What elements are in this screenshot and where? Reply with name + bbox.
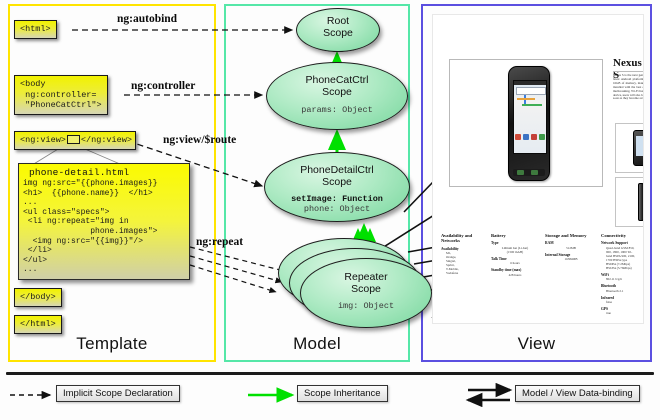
scope-repeater[interactable]: Repeater Scope img: Object xyxy=(300,258,432,328)
column-label-view: View xyxy=(421,334,652,354)
sticky-note-phone-detail[interactable]: phone-detail.html img ng:src="{{phone.im… xyxy=(18,163,190,280)
edge-label-ng-controller: ng:controller xyxy=(131,80,195,92)
phone-screen xyxy=(513,80,547,154)
edge-label-ng-repeat: ng:repeat xyxy=(196,236,243,248)
phone-app-dock xyxy=(515,134,545,143)
spec-column-battery: Battery Type Lithium Ion (Li-Ion) (1500 … xyxy=(491,233,539,277)
sticky-note-code: img ng:src="{{phone.images}} <h1> {{phon… xyxy=(19,179,189,275)
phone-app-icon-4 xyxy=(539,134,545,140)
view-rendered-page[interactable]: Nexus S Nexus S is the next generation o… xyxy=(432,14,644,324)
code-box-html-open[interactable]: <html> xyxy=(14,20,57,39)
scope-phonecatctrl[interactable]: PhoneCatCtrl Scope params: Object xyxy=(266,62,408,130)
code-box-body-open[interactable]: <body ng:controller= "PhoneCatCtrl"> xyxy=(14,75,108,115)
legend-glyph-binding xyxy=(468,390,510,400)
spec-value-ram: 512MB xyxy=(545,246,597,250)
spec-header-storage: Storage and Memory xyxy=(545,233,597,238)
spec-value-internal-storage: 16384MB xyxy=(545,257,597,261)
phone-wallpaper-line-green xyxy=(522,104,542,106)
phone-app-icon-1 xyxy=(515,134,521,140)
phone-device-illustration xyxy=(508,66,550,181)
phone-home-button-icon xyxy=(531,170,538,175)
legend-divider xyxy=(6,372,654,375)
phone-wallpaper-line-orange xyxy=(517,98,535,100)
code-box-html-close[interactable]: </html> xyxy=(14,315,62,334)
spec-header-battery: Battery xyxy=(491,233,539,238)
scope-phonecatctrl-title-line2: Scope xyxy=(267,87,407,99)
scope-phonecatctrl-prop-params: params: Object xyxy=(267,105,407,115)
view-title-divider xyxy=(613,71,644,72)
phone-statusbar-icon xyxy=(514,81,546,85)
edge-label-ng-view-route: ng:view/$route xyxy=(163,134,236,146)
spec-value-availability-6: Vodafone xyxy=(441,271,485,275)
spec-column-connectivity: Connectivity Network Support Quad-band G… xyxy=(601,233,641,315)
legend-item-implicit-scope-declaration: Implicit Scope Declaration xyxy=(56,385,180,402)
scope-phonedetailctrl-title-line1: PhoneDetailCtrl xyxy=(265,153,409,177)
diagram-canvas: <html> <body ng:controller= "PhoneCatCtr… xyxy=(0,0,660,420)
column-label-model: Model xyxy=(224,334,410,354)
thumbnail-phone-side-icon xyxy=(638,183,644,221)
spec-column-storage: Storage and Memory RAM 512MB Internal St… xyxy=(545,233,597,261)
scope-repeater-title-line2: Scope xyxy=(301,284,431,296)
spec-value-battery-talktime: 6 hours xyxy=(491,261,539,265)
ng-view-close-tag: </ng:view> xyxy=(81,135,132,145)
scope-root-title-line2: Scope xyxy=(297,28,379,40)
legend-item-scope-inheritance: Scope Inheritance xyxy=(297,385,388,402)
spec-value-battery-standby: 428 hours xyxy=(491,273,539,277)
spec-value-wifi: 802.11 b/g/n xyxy=(601,277,641,281)
thumbnail-phone-front-icon xyxy=(633,130,644,166)
ng-view-slot-icon xyxy=(67,135,80,144)
spec-value-battery-type-2: (1500 mAH) xyxy=(491,250,539,254)
phone-hardware-buttons xyxy=(513,169,545,176)
ng-view-open-tag: <ng:view> xyxy=(20,135,66,145)
scope-phonedetailctrl-prop-phone: phone: Object xyxy=(265,204,409,214)
scope-phonecatctrl-title-line1: PhoneCatCtrl xyxy=(267,63,407,87)
view-thumbnail-front[interactable] xyxy=(615,123,644,173)
legend-item-model-view-data-binding: Model / View Data-binding xyxy=(515,385,640,402)
phone-app-icon-3 xyxy=(531,134,537,140)
column-label-template: Template xyxy=(8,334,216,354)
scope-phonedetailctrl-prop-setimage: setImage: Function xyxy=(265,194,409,204)
code-box-ng-view[interactable]: <ng:view></ng:view> xyxy=(14,131,136,150)
spec-value-network-6: HSUPA (5.76Mbps) xyxy=(601,266,641,270)
edge-ng-repeat xyxy=(190,247,288,292)
edge-label-ng-autobind: ng:autobind xyxy=(117,13,177,25)
scope-phonedetailctrl-title-line2: Scope xyxy=(265,177,409,189)
spec-column-availability: Availability and Networks Availability M… xyxy=(441,233,485,275)
scope-repeater-title-line1: Repeater xyxy=(301,259,431,284)
scope-root[interactable]: Root Scope xyxy=(296,8,380,52)
phone-call-button-icon xyxy=(517,170,524,175)
view-spec-table: Availability and Networks Availability M… xyxy=(433,233,643,313)
phone-hero-image-frame[interactable] xyxy=(449,59,603,187)
spec-value-infrared: false xyxy=(601,300,641,304)
scope-phonedetailctrl[interactable]: PhoneDetailCtrl Scope setImage: Function… xyxy=(264,152,410,222)
scope-root-title-line1: Root xyxy=(297,9,379,28)
phone-search-widget-icon xyxy=(516,87,546,95)
spec-value-gps: true xyxy=(601,311,641,315)
spec-header-connectivity: Connectivity xyxy=(601,233,641,238)
scope-repeater-prop-img: img: Object xyxy=(301,301,431,311)
sticky-note-title: phone-detail.html xyxy=(19,164,189,179)
view-product-description: Nexus S is the next generation of Nexus … xyxy=(613,74,644,101)
code-box-body-close[interactable]: </body> xyxy=(14,288,62,307)
phone-app-icon-2 xyxy=(523,134,529,140)
view-thumbnail-side[interactable] xyxy=(615,177,644,227)
spec-value-bluetooth: Bluetooth 2.1 xyxy=(601,289,641,293)
spec-header-availability: Availability and Networks xyxy=(441,233,485,244)
